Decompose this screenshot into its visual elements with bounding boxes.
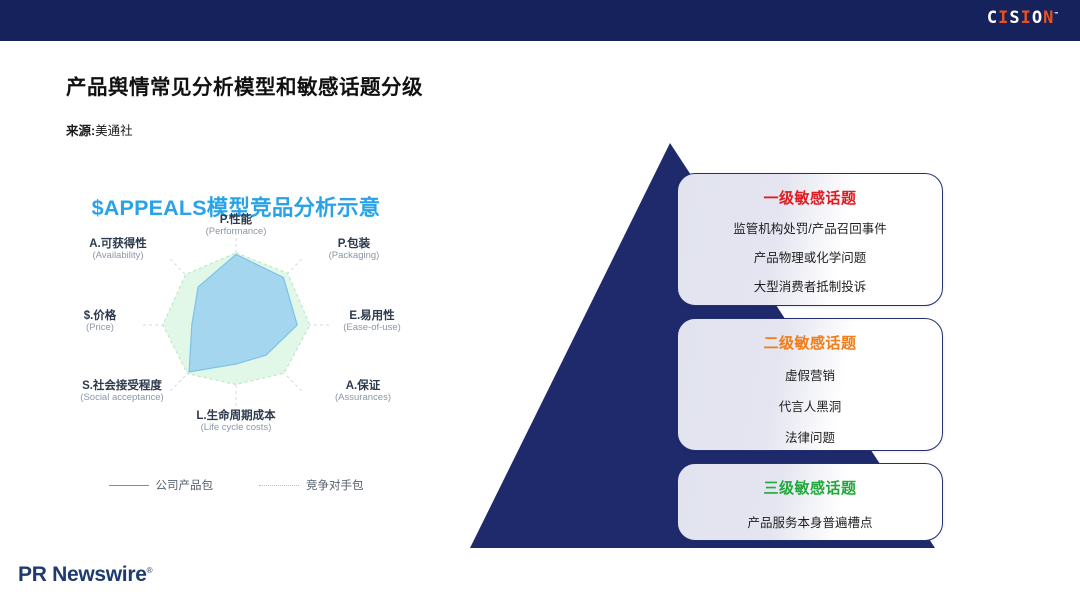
axis-label-en: (Availability) — [52, 251, 184, 262]
tier-item: 法律问题 — [785, 427, 835, 446]
radar-axis-label-availability: A.可获得性 (Availability) — [52, 238, 184, 262]
cision-logo-char-i1: I — [998, 8, 1009, 28]
tier-title-level-1: 一级敏感话题 — [763, 187, 856, 208]
radar-axis-label-social-acceptance: S.社会接受程度 (Social acceptance) — [42, 380, 202, 404]
legend-swatch-dotted-icon — [259, 485, 299, 486]
radar-axis-label-assurances: A.保证 (Assurances) — [304, 380, 422, 404]
axis-label-en: (Life cycle costs) — [151, 423, 321, 434]
tier-card-level-1[interactable]: 一级敏感话题 监管机构处罚/产品召回事件 产品物理或化学问题 大型消费者抵制投诉 — [677, 173, 943, 306]
radar-axis-label-price: $.价格 (Price) — [52, 310, 148, 334]
tier-title-level-3: 三级敏感话题 — [763, 477, 856, 498]
source-value: 美通社 — [95, 124, 133, 138]
tier-card-level-3[interactable]: 三级敏感话题 产品服务本身普遍槽点 — [677, 463, 943, 541]
radar-chart-legend: 公司产品包 竞争对手包 — [46, 477, 426, 493]
pr-newswire-logo: PR Newswire® — [18, 563, 152, 587]
tier-title-level-2: 二级敏感话题 — [763, 332, 856, 353]
legend-item-company: 公司产品包 — [109, 477, 214, 493]
axis-label-en: (Social acceptance) — [42, 393, 202, 404]
slide-canvas: CISION™ 产品舆情常见分析模型和敏感话题分级 来源:美通社 $APPEAL… — [0, 0, 1080, 603]
tier-item: 产品服务本身普遍槽点 — [747, 512, 872, 531]
tier-item: 监管机构处罚/产品召回事件 — [733, 218, 886, 237]
legend-label-company: 公司产品包 — [156, 477, 214, 493]
cision-logo-char-s: S — [1009, 8, 1020, 28]
legend-item-competitor: 竞争对手包 — [259, 477, 364, 493]
legend-swatch-solid-icon — [109, 485, 149, 486]
legend-label-competitor: 竞争对手包 — [306, 477, 364, 493]
tier-item: 代言人黑洞 — [779, 396, 842, 415]
pr-newswire-logo-text: PR Newswire — [18, 563, 147, 586]
tier-item: 大型消费者抵制投诉 — [754, 276, 867, 295]
radar-axis-label-ease-of-use: E.易用性 (Ease-of-use) — [318, 310, 426, 334]
axis-label-en: (Price) — [52, 323, 148, 334]
cision-logo-trademark: ™ — [1054, 11, 1058, 18]
radar-axis-label-packaging: P.包装 (Packaging) — [294, 238, 414, 262]
cision-logo-char-c: C — [987, 8, 998, 28]
axis-label-en: (Assurances) — [304, 393, 422, 404]
cision-logo-char-i2: I — [1021, 8, 1032, 28]
tier-card-level-2[interactable]: 二级敏感话题 虚假营销 代言人黑洞 法律问题 — [677, 318, 943, 451]
sensitive-topic-pyramid: 一级敏感话题 监管机构处罚/产品召回事件 产品物理或化学问题 大型消费者抵制投诉… — [455, 135, 955, 555]
radar-chart-panel: $APPEALS模型竞品分析示意 P.性能 (Performance) P.包装… — [46, 165, 426, 525]
top-navy-bar: CISION™ — [0, 0, 1080, 41]
tier-item: 虚假营销 — [785, 365, 835, 384]
source-label: 来源: — [66, 124, 95, 138]
tier-item: 产品物理或化学问题 — [754, 247, 867, 266]
page-title: 产品舆情常见分析模型和敏感话题分级 — [66, 70, 423, 100]
axis-label-en: (Ease-of-use) — [318, 323, 426, 334]
cision-logo-char-n: N — [1043, 8, 1054, 28]
cision-logo: CISION™ — [987, 10, 1058, 27]
pr-newswire-registered-mark: ® — [147, 566, 153, 575]
cision-logo-char-o: O — [1032, 8, 1043, 28]
radar-axis-label-performance: P.性能 (Performance) — [166, 214, 306, 238]
axis-label-en: (Packaging) — [294, 251, 414, 262]
radar-axis-label-life-cycle-costs: L.生命周期成本 (Life cycle costs) — [151, 410, 321, 434]
source-line: 来源:美通社 — [66, 120, 133, 139]
radar-chart-plot: P.性能 (Performance) P.包装 (Packaging) E.易用… — [46, 220, 426, 470]
axis-label-en: (Performance) — [166, 227, 306, 238]
